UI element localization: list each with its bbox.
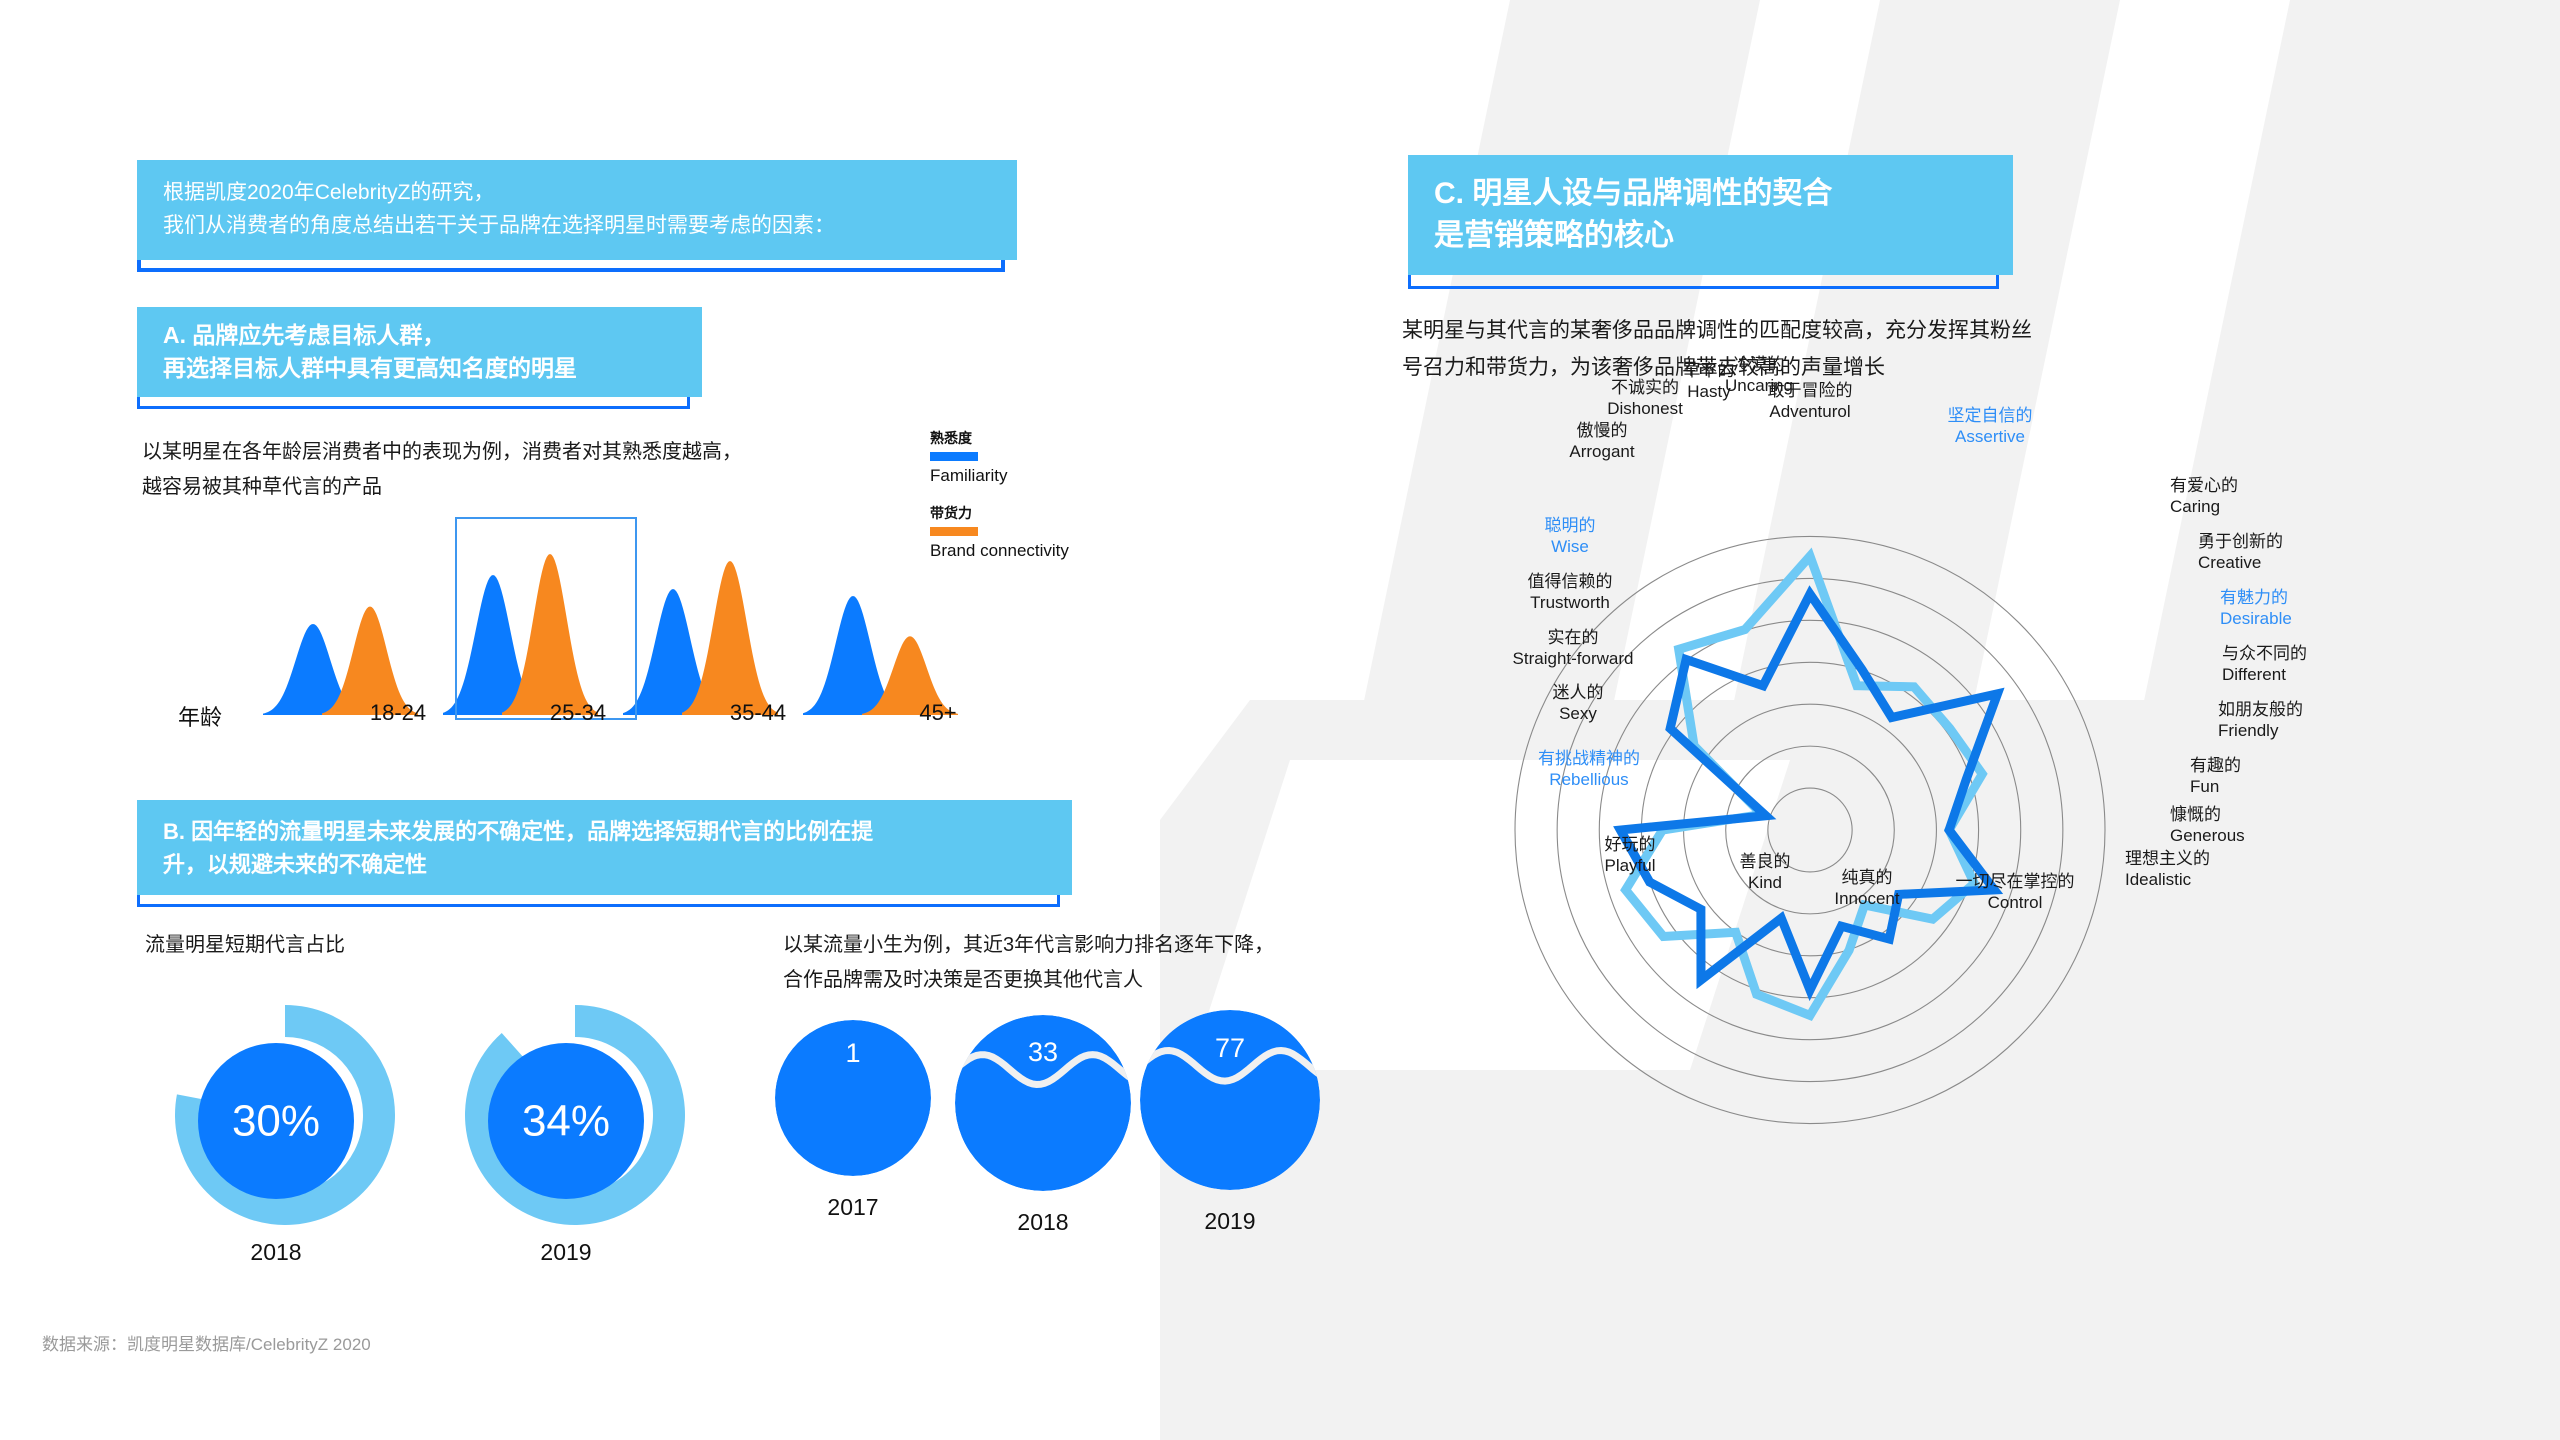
legend-swatch-familiarity	[930, 452, 978, 461]
radar-axis-label-uncaring: 冷漠的Uncaring	[1725, 354, 1793, 397]
age-axis-tick-35-44: 35-44	[730, 700, 786, 726]
legend-item-familiarity: 熟悉度 Familiarity	[930, 428, 1069, 486]
bubble-chart-2017: 12017	[775, 1020, 931, 1222]
radar-axis-label-cn: 实在的	[1513, 627, 1634, 648]
radar-axis-label-en: Adventurol	[1768, 401, 1853, 422]
donut-value-label: 30%	[232, 1097, 320, 1146]
radar-axis-label-en: Desirable	[2220, 608, 2292, 629]
donut-value-label: 34%	[522, 1097, 610, 1146]
age-axis-tick-25-34: 25-34	[550, 700, 606, 726]
section-b-callout: B. 因年轻的流量明星未来发展的不确定性，品牌选择短期代言的比例在提 升，以规避…	[137, 800, 1072, 895]
bubble-value-label: 33	[1028, 1037, 1058, 1067]
section-b-title-line-2: 升，以规避未来的不确定性	[163, 848, 1046, 881]
donut-svg: 30%	[175, 1005, 395, 1225]
age-axis-labels: 年龄18-2425-3435-4445+	[165, 700, 995, 740]
section-c-title-line-1: C. 明星人设与品牌调性的契合	[1434, 173, 1987, 215]
radar-axis-label-en: Kind	[1740, 872, 1791, 893]
radar-axis-label-cn: 与众不同的	[2222, 643, 2307, 664]
donut-chart-2018: 30%2018	[175, 1005, 395, 1271]
bubble-value-label: 1	[845, 1038, 860, 1068]
radar-axis-label-en: Trustworth	[1528, 592, 1613, 613]
radar-axis-label-generous: 慷慨的Generous	[2170, 804, 2245, 847]
age-axis-tick-18-24: 18-24	[370, 700, 426, 726]
radar-axis-label-arrogant: 傲慢的Arrogant	[1569, 420, 1634, 463]
donut-year-label-2018: 2018	[166, 1239, 386, 1266]
radar-grid-ring	[1684, 704, 1937, 956]
radar-axis-label-trustworth: 值得信赖的Trustworth	[1528, 571, 1613, 614]
radar-axis-label-en: Sexy	[1553, 703, 1604, 724]
radar-axis-label-en: Generous	[2170, 825, 2245, 846]
donut-chart-caption: 流量明星短期代言占比	[145, 928, 345, 963]
section-a-title: A. 品牌应先考虑目标人群， 再选择目标人群中具有更高知名度的明星	[137, 307, 702, 397]
radar-axis-label-cn: 冷漠的	[1725, 354, 1793, 375]
radar-chart-panel: 敢于冒险的Adventurol坚定自信的Assertive有爱心的Caring勇…	[1380, 430, 2560, 1340]
age-group-highlight-box	[455, 517, 637, 720]
intro-line-1: 根据凯度2020年CelebrityZ的研究，	[163, 177, 991, 210]
radar-axis-label-cn: 一切尽在掌控的	[1956, 871, 2075, 892]
radar-axis-label-assertive: 坚定自信的Assertive	[1948, 405, 2033, 448]
section-a-title-line-1: A. 品牌应先考虑目标人群，	[163, 319, 676, 352]
section-c-title: C. 明星人设与品牌调性的契合 是营销策略的核心	[1408, 155, 2013, 275]
donut-year-label-2019: 2019	[456, 1239, 676, 1266]
radar-axis-label-en: Different	[2222, 664, 2307, 685]
radar-axis-label-control: 一切尽在掌控的Control	[1956, 871, 2075, 914]
section-c-desc-line-1: 某明星与其代言的某奢侈品品牌调性的匹配度较高，充分发挥其粉丝	[1402, 313, 2032, 350]
radar-axis-label-cn: 迷人的	[1553, 682, 1604, 703]
radar-axis-label-cn: 值得信赖的	[1528, 571, 1613, 592]
intro-callout-text: 根据凯度2020年CelebrityZ的研究， 我们从消费者的角度总结出若干关于…	[137, 160, 1017, 260]
legend-label-cn: 熟悉度	[930, 428, 1069, 448]
section-c-title-line-2: 是营销策略的核心	[1434, 215, 1987, 257]
radar-axis-label-cn: 不诚实的	[1607, 377, 1683, 398]
bubble-svg: 77	[1140, 1010, 1320, 1190]
radar-axis-label-wise: 聪明的Wise	[1545, 515, 1596, 558]
radar-axis-label-cn: 有挑战精神的	[1538, 748, 1640, 769]
source-note: 数据来源：凯度明星数据库/CelebrityZ 2020	[42, 1330, 371, 1355]
bubble-chart-2018: 332018	[955, 1015, 1131, 1237]
radar-axis-label-en: Creative	[2198, 552, 2283, 573]
bubble-svg: 1	[775, 1020, 931, 1176]
radar-axis-label-en: Playful	[1604, 855, 1655, 876]
radar-axis-label-cn: 有爱心的	[2170, 475, 2238, 496]
section-a-callout: A. 品牌应先考虑目标人群， 再选择目标人群中具有更高知名度的明星	[137, 307, 702, 397]
radar-axis-label-cn: 善良的	[1740, 851, 1791, 872]
legend-label-en: Familiarity	[930, 466, 1069, 486]
radar-axis-label-dishonest: 不诚实的Dishonest	[1607, 377, 1683, 420]
bubble-svg: 33	[955, 1015, 1131, 1191]
radar-axis-label-en: Control	[1956, 892, 2075, 913]
age-axis-tick-45+: 45+	[919, 700, 956, 726]
section-a-desc-line-1: 以某明星在各年龄层消费者中的表现为例，消费者对其熟悉度越高，	[142, 435, 742, 470]
radar-axis-label-rebellious: 有挑战精神的Rebellious	[1538, 748, 1640, 791]
section-a-title-line-2: 再选择目标人群中具有更高知名度的明星	[163, 352, 676, 385]
radar-axis-label-en: Fun	[2190, 776, 2241, 797]
radar-axis-label-en: Arrogant	[1569, 441, 1634, 462]
radar-axis-label-friendly: 如朋友般的Friendly	[2218, 699, 2303, 742]
section-a-desc-line-2: 越容易被其种草代言的产品	[142, 470, 742, 505]
radar-axis-label-cn: 慷慨的	[2170, 804, 2245, 825]
radar-axis-label-en: Caring	[2170, 496, 2238, 517]
donut-chart-2019: 34%2019	[465, 1005, 685, 1271]
intro-line-2: 我们从消费者的角度总结出若干关于品牌在选择明星时需要考虑的因素：	[163, 210, 991, 243]
radar-axis-label-cn: 纯真的	[1834, 867, 1899, 888]
radar-axis-label-en: Friendly	[2218, 720, 2303, 741]
bubble-caption-line-2: 合作品牌需及时决策是否更换其他代言人	[783, 963, 1274, 998]
radar-axis-label-en: Straight-forward	[1513, 648, 1634, 669]
radar-axis-label-cn: 好玩的	[1604, 834, 1655, 855]
radar-axis-label-creative: 勇于创新的Creative	[2198, 531, 2283, 574]
radar-grid-ring	[1515, 536, 2105, 1123]
radar-axis-label-cn: 傲慢的	[1569, 420, 1634, 441]
radar-axis-label-caring: 有爱心的Caring	[2170, 475, 2238, 518]
radar-axis-label-idealistic: 理想主义的Idealistic	[2125, 848, 2210, 891]
radar-axis-label-innocent: 纯真的Innocent	[1834, 867, 1899, 910]
radar-axis-label-en: Uncaring	[1725, 375, 1793, 396]
radar-axis-label-different: 与众不同的Different	[2222, 643, 2307, 686]
radar-axis-label-en: Dishonest	[1607, 398, 1683, 419]
donut-caption-text: 流量明星短期代言占比	[145, 928, 345, 963]
radar-axis-label-cn: 有魅力的	[2220, 587, 2292, 608]
radar-axis-label-en: Rebellious	[1538, 769, 1640, 790]
section-a-description: 以某明星在各年龄层消费者中的表现为例，消费者对其熟悉度越高， 越容易被其种草代言…	[142, 435, 742, 505]
radar-axis-label-en: Innocent	[1834, 888, 1899, 909]
bubble-chart-caption: 以某流量小生为例，其近3年代言影响力排名逐年下降， 合作品牌需及时决策是否更换其…	[783, 928, 1274, 998]
radar-axis-label-en: Idealistic	[2125, 869, 2210, 890]
radar-axis-label-cn: 理想主义的	[2125, 848, 2210, 869]
radar-axis-label-en: Wise	[1545, 536, 1596, 557]
radar-axis-label-kind: 善良的Kind	[1740, 851, 1791, 894]
radar-axis-label-sexy: 迷人的Sexy	[1553, 682, 1604, 725]
radar-axis-label-playful: 好玩的Playful	[1604, 834, 1655, 877]
radar-axis-label-straight-forward: 实在的Straight-forward	[1513, 627, 1634, 670]
donut-svg: 34%	[465, 1005, 685, 1225]
radar-axis-label-cn: 有趣的	[2190, 755, 2241, 776]
radar-axis-label-desirable: 有魅力的Desirable	[2220, 587, 2292, 630]
bubble-year-label-2019: 2019	[1140, 1208, 1320, 1235]
bubble-year-label-2018: 2018	[955, 1209, 1131, 1236]
radar-axis-label-cn: 勇于创新的	[2198, 531, 2283, 552]
bubble-caption-line-1: 以某流量小生为例，其近3年代言影响力排名逐年下降，	[783, 928, 1274, 963]
intro-callout: 根据凯度2020年CelebrityZ的研究， 我们从消费者的角度总结出若干关于…	[137, 160, 1017, 260]
radar-axis-label-cn: 聪明的	[1545, 515, 1596, 536]
bubble-year-label-2017: 2017	[775, 1194, 931, 1221]
radar-axis-label-fun: 有趣的Fun	[2190, 755, 2241, 798]
section-b-title: B. 因年轻的流量明星未来发展的不确定性，品牌选择短期代言的比例在提 升，以规避…	[137, 800, 1072, 895]
radar-axis-label-cn: 如朋友般的	[2218, 699, 2303, 720]
radar-axis-label-en: Assertive	[1948, 426, 2033, 447]
section-b-title-line-1: B. 因年轻的流量明星未来发展的不确定性，品牌选择短期代言的比例在提	[163, 815, 1046, 848]
bubble-chart-2019: 772019	[1140, 1010, 1320, 1236]
age-axis-title: 年龄	[178, 700, 222, 732]
radar-axis-label-cn: 坚定自信的	[1948, 405, 2033, 426]
section-c-callout: C. 明星人设与品牌调性的契合 是营销策略的核心	[1408, 155, 2013, 275]
bubble-value-label: 77	[1215, 1033, 1245, 1063]
